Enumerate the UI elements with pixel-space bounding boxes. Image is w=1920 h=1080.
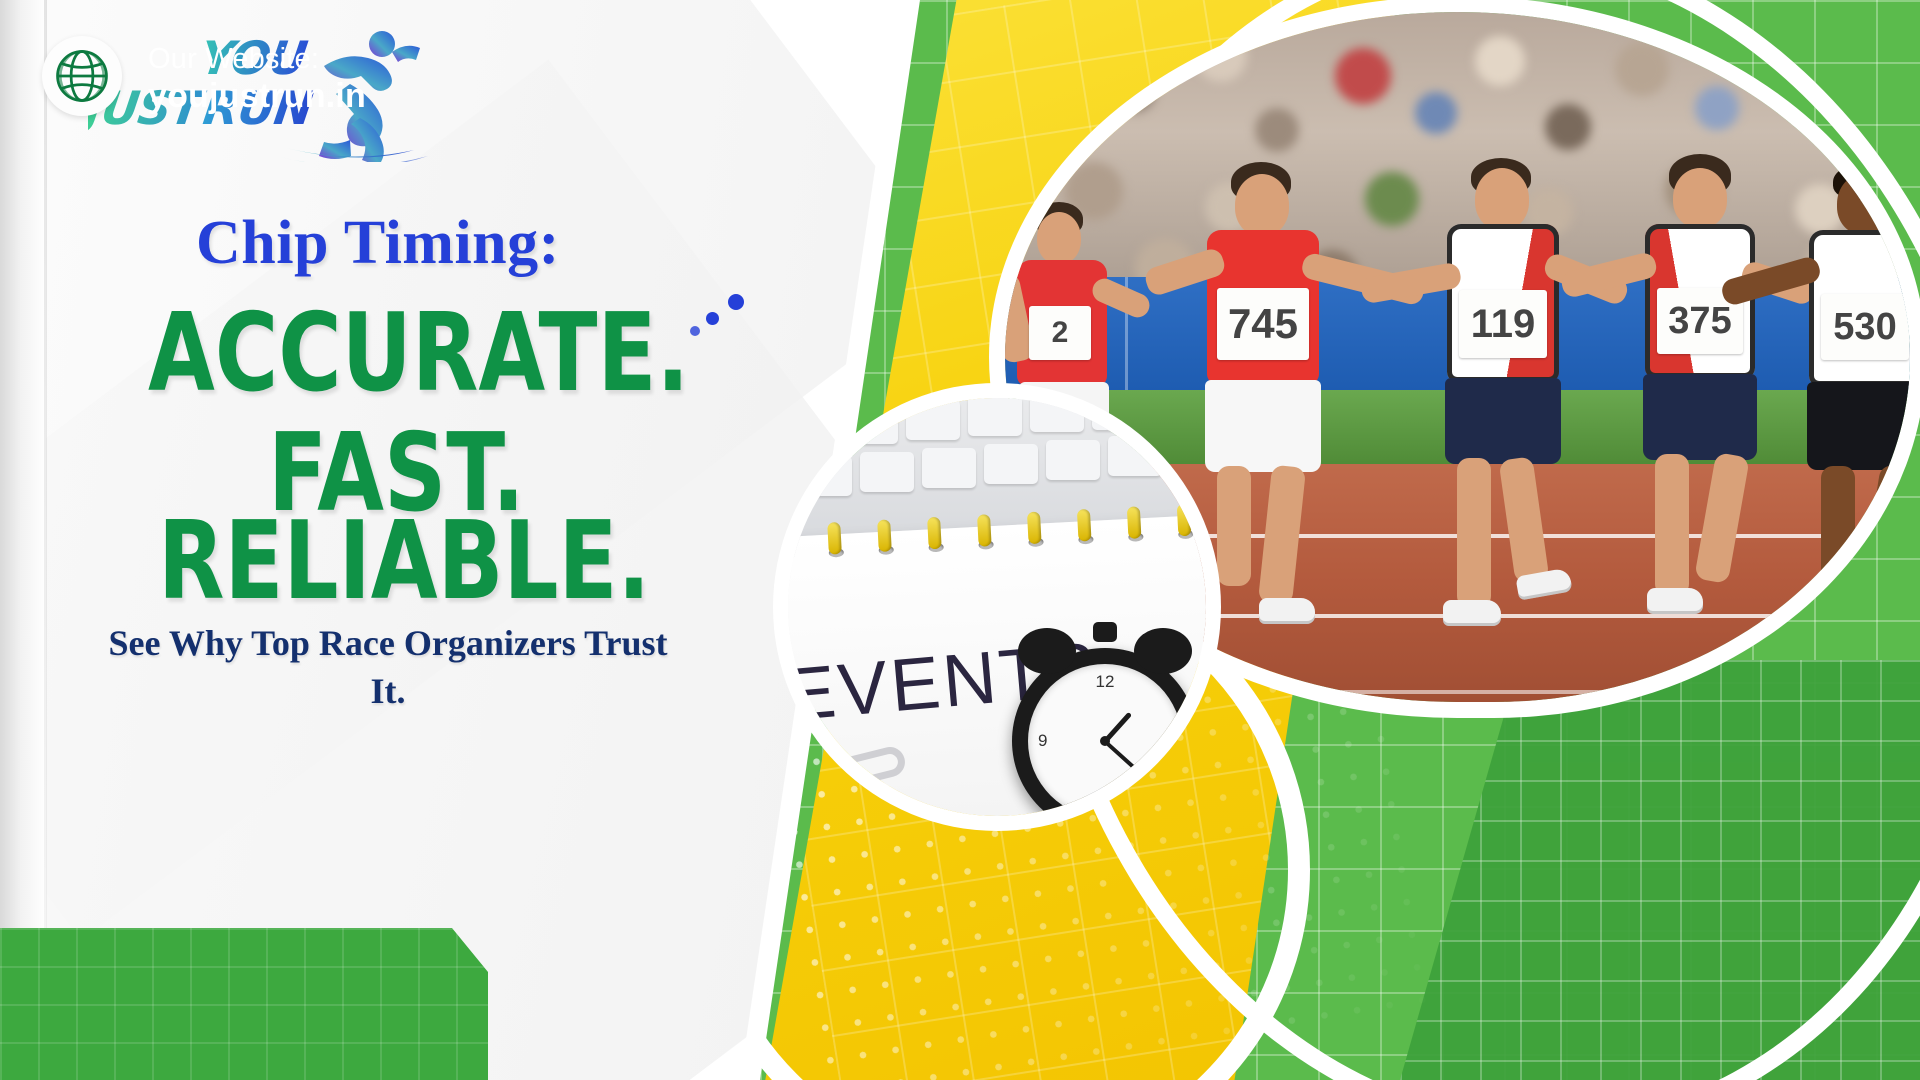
clock-bell-right xyxy=(1134,628,1192,674)
website-url[interactable]: youjustrun.in xyxy=(148,76,366,116)
globe-icon xyxy=(42,36,122,116)
events-scene: EVENTS 12 3 6 9 xyxy=(788,398,1206,816)
alarm-clock: 12 3 6 9 xyxy=(1012,648,1198,816)
footer-grid-pattern xyxy=(0,928,488,1080)
tagline-text: See Why Top Race Organizers Trust It. xyxy=(88,620,688,715)
blue-dots-decoration xyxy=(690,292,760,338)
left-edge-line xyxy=(44,0,47,1080)
clock-center-pin xyxy=(1100,736,1110,746)
clock-bell-left xyxy=(1018,628,1076,674)
clock-minute-hand xyxy=(1104,739,1148,779)
clock-knob xyxy=(1093,622,1117,642)
runner-530: 530 xyxy=(1747,164,1910,684)
events-photo: EVENTS 12 3 6 9 xyxy=(788,398,1206,816)
clock-face: 12 3 6 9 xyxy=(1028,664,1182,816)
marketing-banner: YOU JUST RUN Chip Timing: ACCURATE. FAST… xyxy=(0,0,1920,1080)
headline-line-3: RELIABLE. xyxy=(158,508,650,616)
website-footer-bar xyxy=(0,928,488,1080)
left-edge-shadow xyxy=(0,0,46,1080)
website-text-group: Our Website: youjustrun.in xyxy=(148,42,366,116)
headline-line-1: ACCURATE. xyxy=(148,300,689,408)
website-label: Our Website: xyxy=(148,42,366,76)
eyebrow-text: Chip Timing: xyxy=(196,208,560,279)
